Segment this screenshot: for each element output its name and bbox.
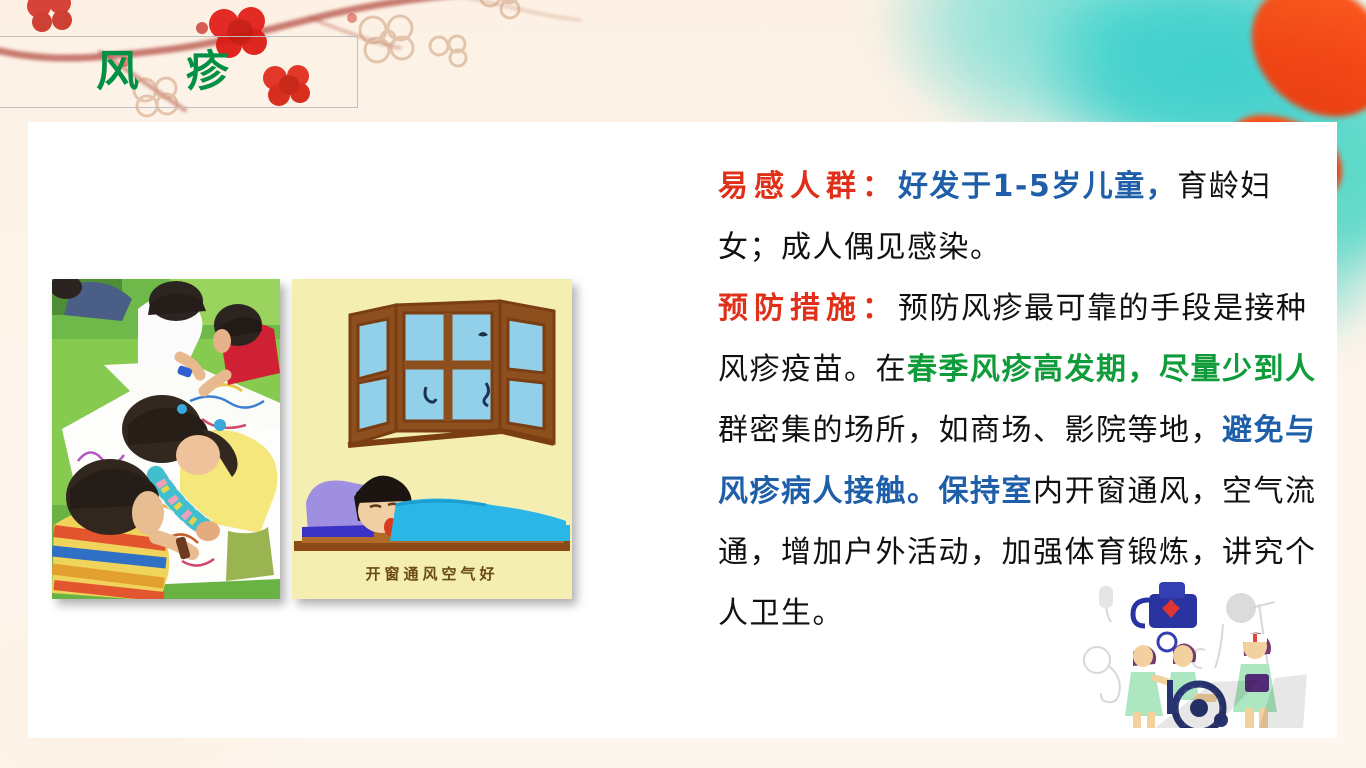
run-prevention-season: 春季风疹高发期，尽量少到人	[907, 352, 1317, 387]
paragraph-susceptible: 易感人群：好发于1-5岁儿童，育龄妇女；成人偶见感染。	[718, 156, 1318, 278]
slide-root: 风 疹	[0, 0, 1366, 768]
run-prevention-label: 预防措施：	[718, 291, 898, 326]
children-drawing-photo	[52, 279, 280, 599]
open-window-illustration: 开窗通风空气好	[292, 279, 572, 599]
run-susceptible-label: 易感人群：	[718, 169, 898, 204]
run-susceptible-age: 好发于1-5岁儿童，	[898, 169, 1177, 204]
body-text: 易感人群：好发于1-5岁儿童，育龄妇女；成人偶见感染。 预防措施：预防风疹最可靠…	[718, 156, 1318, 644]
paragraph-prevention: 预防措施：预防风疹最可靠的手段是接种风疹疫苗。在春季风疹高发期，尽量少到人群密集…	[718, 278, 1318, 644]
page-title: 风 疹	[96, 38, 245, 106]
run-prevention-crowd: 群密集的场所，如商场、影院等地，	[718, 413, 1222, 448]
svg-text:开窗通风空气好: 开窗通风空气好	[365, 565, 498, 583]
content-card: 开窗通风空气好	[28, 122, 1337, 738]
